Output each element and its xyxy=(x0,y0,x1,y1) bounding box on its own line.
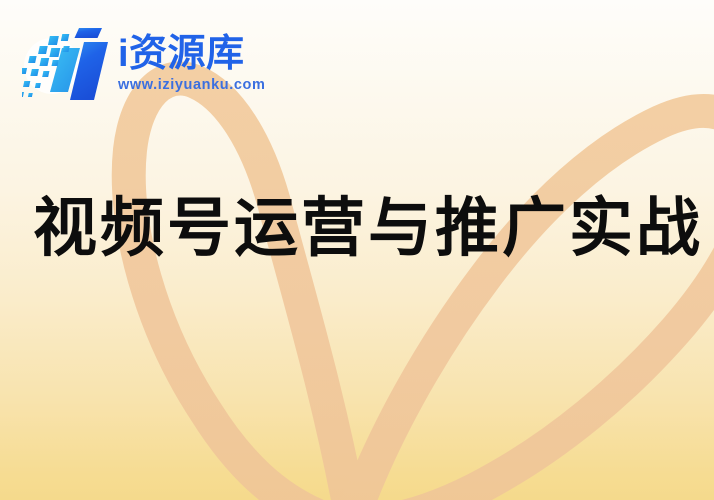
brand-url: www.iziyuanku.com xyxy=(118,78,265,93)
pixel-i-logo-icon xyxy=(22,26,114,102)
brand-logo[interactable]: i资源库 www.iziyuanku.com xyxy=(22,26,265,102)
brand-name: i资源库 xyxy=(118,35,265,75)
slide-canvas: i资源库 www.iziyuanku.com 视频号运营与推广实战 xyxy=(0,0,714,500)
page-title: 视频号运营与推广实战 xyxy=(33,196,703,263)
logo-text: i资源库 www.iziyuanku.com xyxy=(118,35,265,92)
logo-mark xyxy=(22,26,114,102)
